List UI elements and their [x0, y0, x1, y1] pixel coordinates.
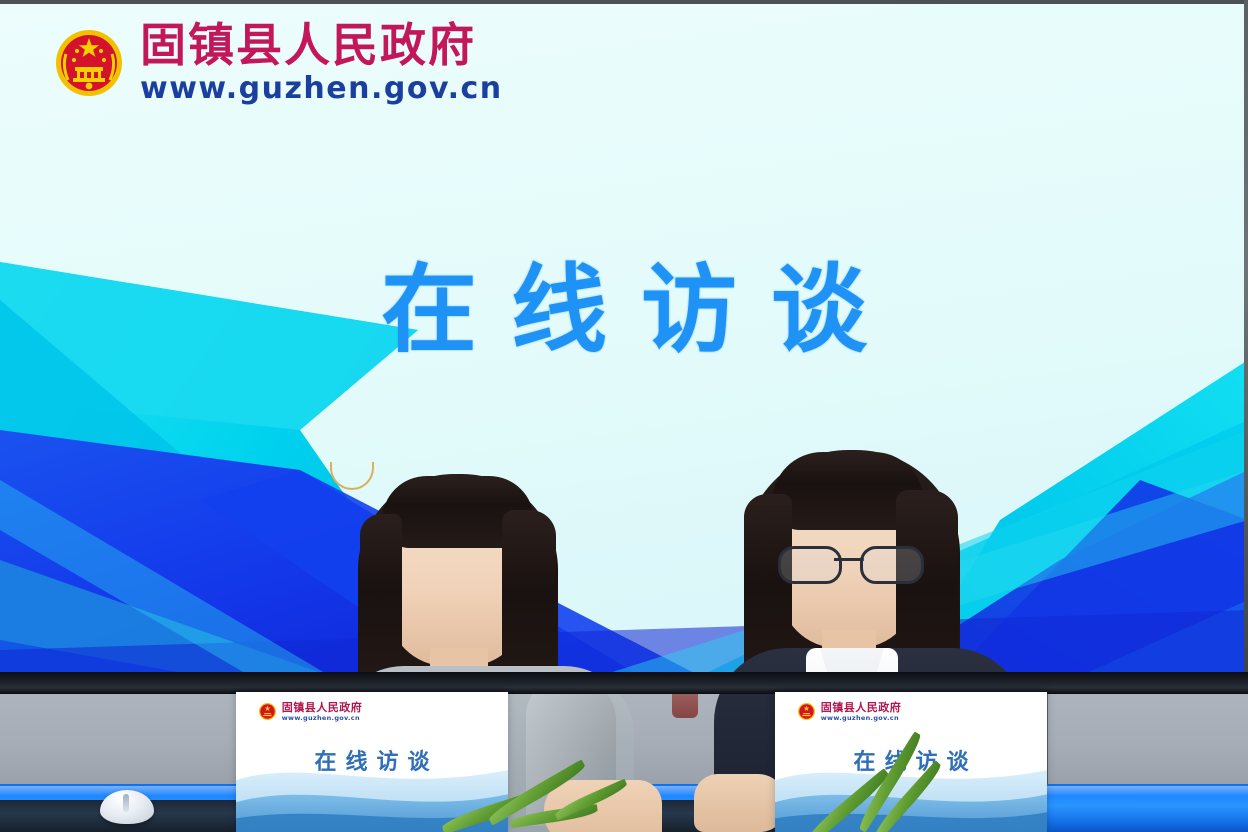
plant-center	[430, 780, 630, 832]
gov-logo: 固镇县人民政府 www.guzhen.gov.cn	[52, 22, 503, 104]
nameplate-logo: 固镇县人民政府 www.guzhen.gov.cn	[797, 702, 902, 722]
nameplate-logo-url: www.guzhen.gov.cn	[821, 715, 902, 722]
national-emblem-icon	[258, 702, 277, 721]
lens-left	[778, 546, 842, 584]
nameplate-logo: 固镇县人民政府 www.guzhen.gov.cn	[258, 702, 363, 722]
wall-bezel-bottom	[0, 672, 1248, 694]
national-emblem-icon	[797, 702, 816, 721]
lens-right	[860, 546, 924, 584]
nameplate-logo-title: 固镇县人民政府	[821, 702, 902, 713]
broadcast-screenshot: 固镇县人民政府 www.guzhen.gov.cn 在线访谈	[0, 0, 1248, 832]
arm-left	[694, 774, 786, 832]
plant-right	[790, 766, 970, 832]
wall-title: 在线访谈	[0, 232, 1248, 371]
necklace	[330, 462, 374, 490]
gov-logo-url: www.guzhen.gov.cn	[140, 74, 503, 104]
eyeglasses-icon	[778, 546, 920, 580]
nameplate-main-text: 在线访谈	[236, 744, 508, 776]
wall-bezel-top	[0, 0, 1248, 4]
computer-mouse[interactable]	[100, 790, 154, 824]
national-emblem-icon	[52, 26, 126, 100]
gov-logo-title: 固镇县人民政府	[140, 22, 503, 68]
nameplate-logo-title: 固镇县人民政府	[282, 702, 363, 713]
nameplate-logo-url: www.guzhen.gov.cn	[282, 715, 363, 722]
